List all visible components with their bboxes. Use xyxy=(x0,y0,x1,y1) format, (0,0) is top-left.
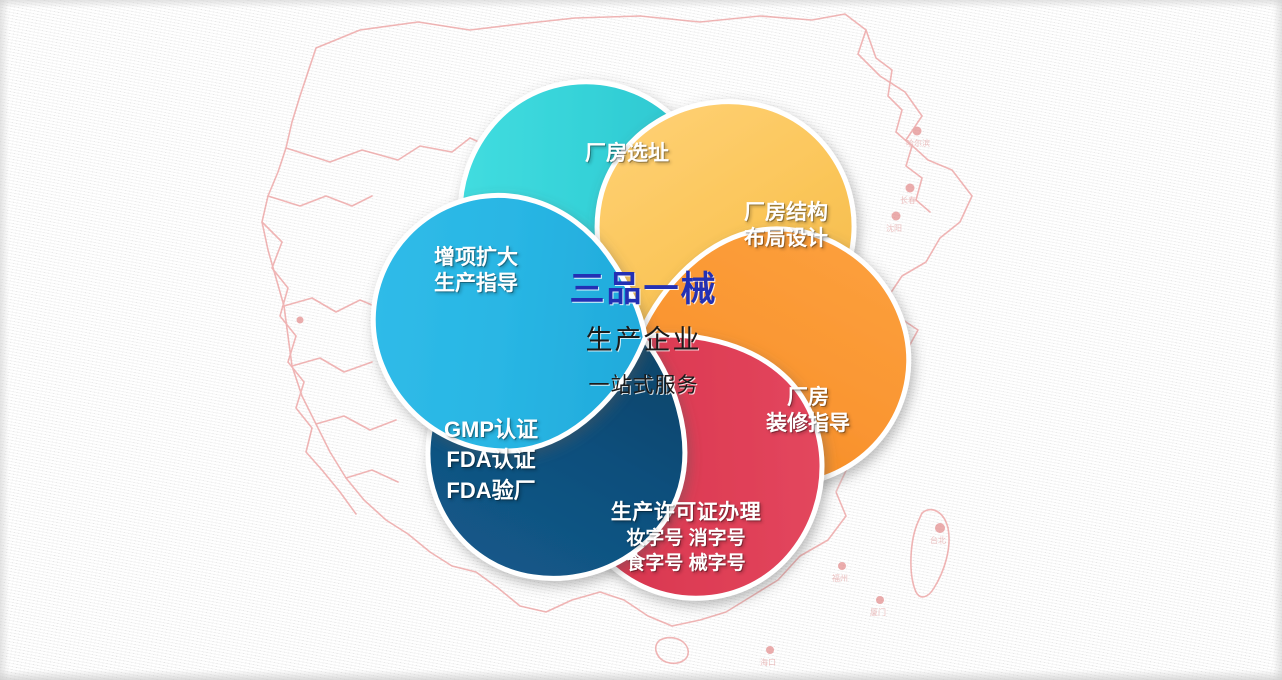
city-dot xyxy=(297,317,304,324)
service-pinwheel-diagram: 厂房选址 厂房结构 布局设计 厂房 装修指导 生产许可证办理 妆字号 消字号 食… xyxy=(341,45,941,635)
svg-text:海口: 海口 xyxy=(760,657,776,667)
center-hub xyxy=(537,236,745,444)
poster-canvas: 哈尔滨 长春 沈阳 济南 福州 厦门 台北 海口 xyxy=(0,0,1282,680)
city-dot xyxy=(766,646,774,654)
